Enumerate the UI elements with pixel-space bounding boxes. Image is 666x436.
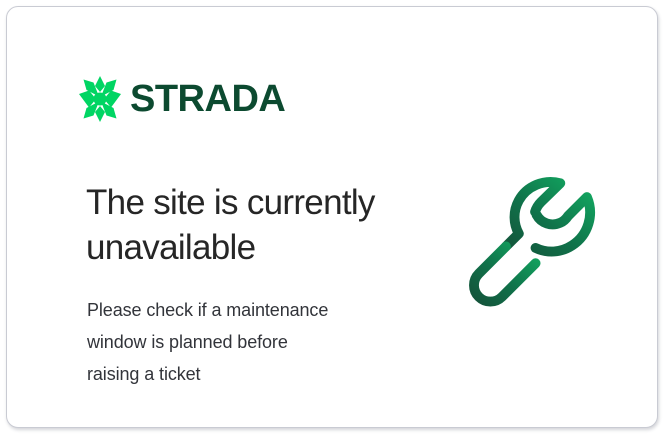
description-line: raising a ticket — [87, 358, 397, 390]
page-description: Please check if a maintenance window is … — [87, 294, 397, 390]
description-line: window is planned before — [87, 326, 397, 358]
description-line: Please check if a maintenance — [87, 294, 397, 326]
status-card: STRADA The site is currently unavailable… — [6, 6, 658, 428]
page-title: The site is currently unavailable — [86, 181, 416, 269]
brand-logo: STRADA — [79, 73, 285, 125]
error-page: STRADA The site is currently unavailable… — [0, 0, 666, 436]
wrench-icon — [462, 162, 620, 322]
brand-wordmark: STRADA — [130, 80, 285, 118]
strada-asterisk-icon — [79, 76, 121, 122]
